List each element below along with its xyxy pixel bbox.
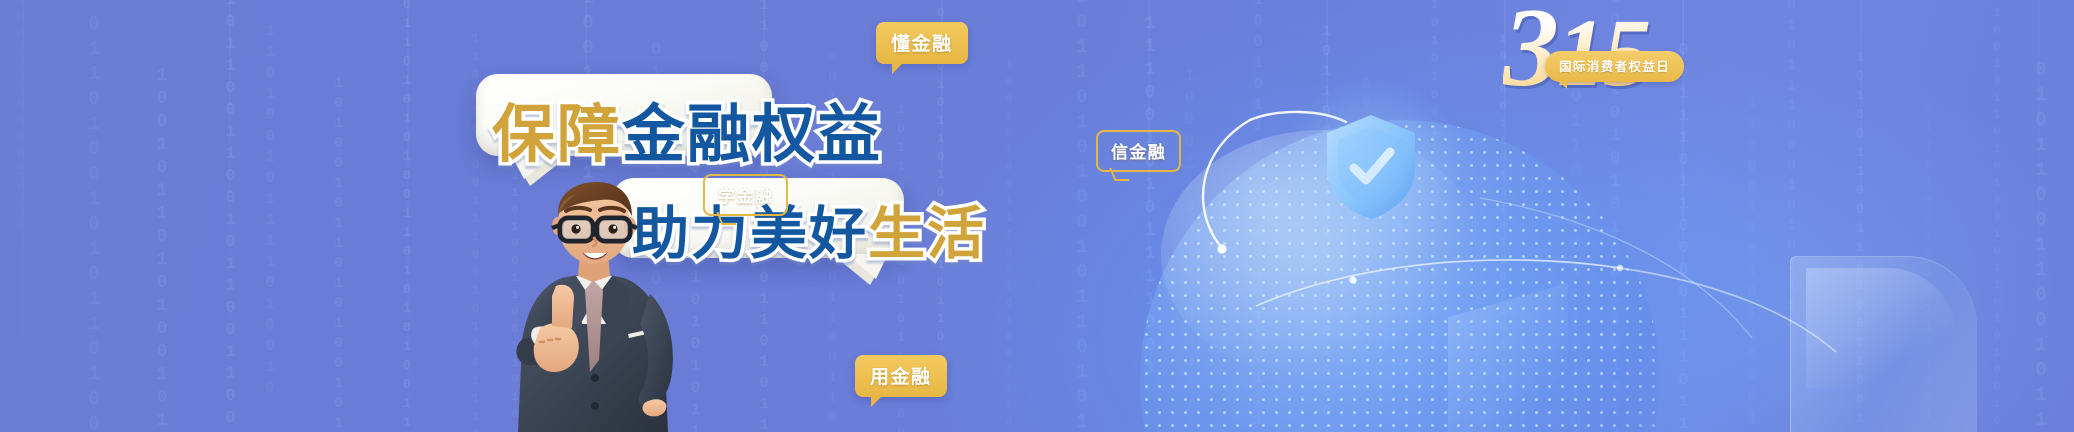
tag-yong-jinrong[interactable]: 用金融 (855, 355, 947, 397)
logo-315: 315 国际消费者权益日 (1487, 0, 1777, 108)
tag-xue-jinrong[interactable]: 学金融 (703, 174, 788, 216)
headline-line-1: 保障金融权益 (492, 84, 882, 175)
tag-xue-jinrong-label: 学金融 (705, 176, 786, 214)
shield-check-icon (1323, 112, 1419, 222)
tag-dong-jinrong[interactable]: 懂金融 (876, 22, 968, 64)
headline-2-part-gold: 生活 (868, 201, 986, 267)
promo-banner: 1010011001101001011010010101101001010100… (0, 0, 2074, 432)
businessman-thumbs-up-icon (500, 182, 700, 432)
logo-315-badge: 国际消费者权益日 (1545, 51, 1684, 82)
tag-dong-jinrong-label: 懂金融 (876, 22, 968, 64)
headline-1-part-gold: 保障 (492, 98, 622, 171)
shield-glow (1277, 72, 1467, 268)
tag-yong-jinrong-label: 用金融 (855, 355, 947, 397)
tag-xin-jinrong-label: 信金融 (1098, 132, 1179, 170)
headline-1-part-blue: 金融权益 (622, 98, 882, 171)
logo-315-badge-label: 国际消费者权益日 (1559, 60, 1670, 74)
tag-xin-jinrong[interactable]: 信金融 (1096, 130, 1181, 172)
